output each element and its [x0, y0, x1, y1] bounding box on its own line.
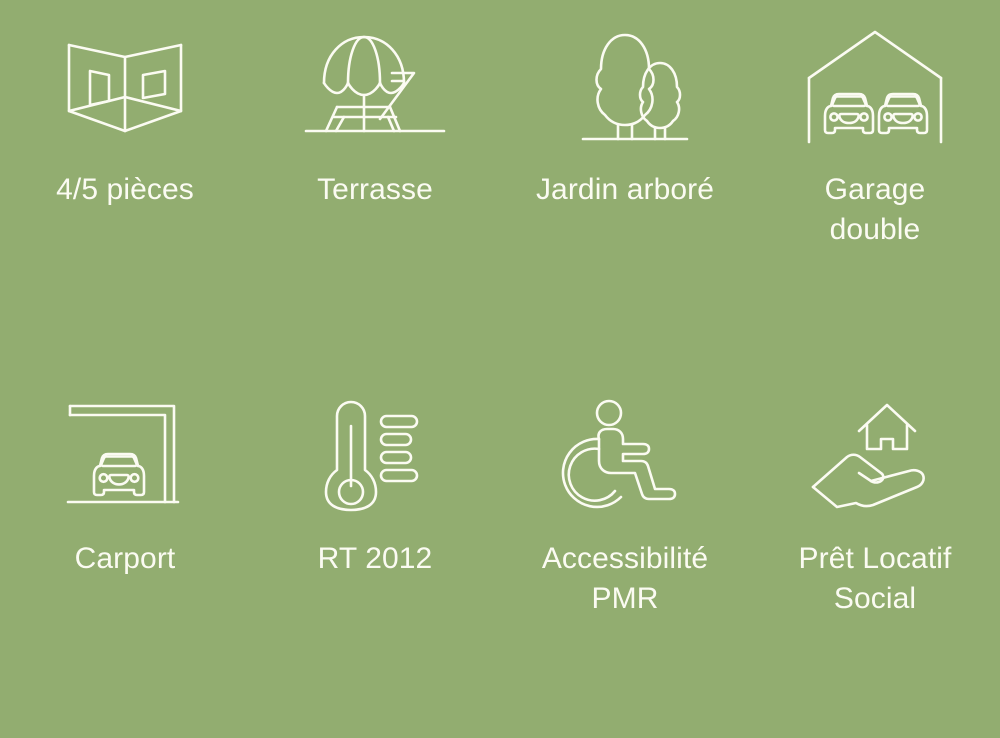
feature-item-accessibilite-pmr[interactable]: Accessibilité PMR [500, 369, 750, 738]
carport-car-icon [50, 391, 200, 521]
feature-item-carport[interactable]: Carport [0, 369, 250, 738]
feature-item-pieces[interactable]: 4/5 pièces [0, 0, 250, 369]
feature-label: Accessibilité PMR [542, 539, 708, 619]
feature-label: Prêt Locatif Social [799, 539, 952, 619]
wheelchair-icon [550, 391, 700, 521]
feature-label: Jardin arboré [536, 170, 714, 210]
feature-item-pret-locatif-social[interactable]: Prêt Locatif Social [750, 369, 1000, 738]
thermometer-icon [300, 391, 450, 521]
feature-label: Garage double [825, 170, 926, 250]
feature-label: Terrasse [317, 170, 433, 210]
feature-item-jardin[interactable]: Jardin arboré [500, 0, 750, 369]
room-perspective-icon [50, 22, 200, 152]
feature-label: Carport [75, 539, 176, 579]
parasol-lounger-icon [300, 22, 450, 152]
feature-item-rt2012[interactable]: RT 2012 [250, 369, 500, 738]
feature-item-terrasse[interactable]: Terrasse [250, 0, 500, 369]
feature-label: 4/5 pièces [56, 170, 194, 210]
features-grid: 4/5 pièces [0, 0, 1000, 738]
hand-house-icon [800, 391, 950, 521]
feature-label: RT 2012 [318, 539, 433, 579]
two-trees-icon [550, 22, 700, 152]
feature-item-garage-double[interactable]: Garage double [750, 0, 1000, 369]
garage-two-cars-icon [800, 22, 950, 152]
